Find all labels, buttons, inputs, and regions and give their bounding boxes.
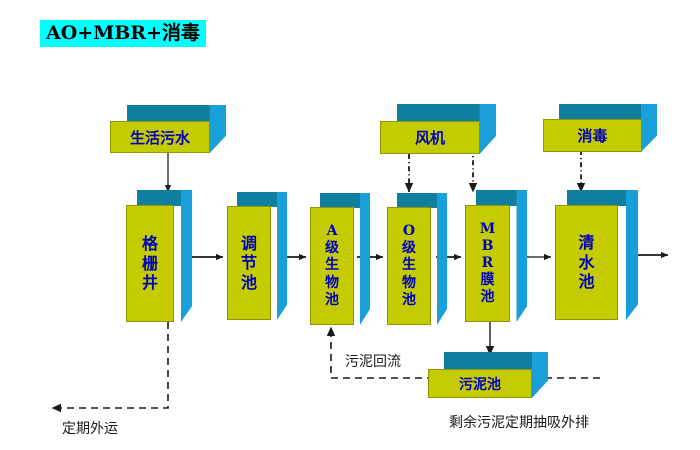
box-blower-front-face: 风机 (380, 121, 480, 154)
box-equalization-tank-front-face: 调 节 池 (227, 206, 271, 320)
box-blower[interactable]: 风机 (380, 104, 496, 154)
box-sludge-tank-front-face: 污泥池 (428, 369, 532, 398)
char: 池 (578, 272, 594, 292)
box-mbr-membrane-tank[interactable]: M B R 膜 池 (465, 190, 527, 322)
char: 井 (142, 273, 158, 293)
char: 水 (578, 253, 594, 273)
box-influent-front-face: 生活污水 (110, 121, 210, 153)
box-sludge-tank[interactable]: 污泥池 (428, 352, 548, 398)
char: 物 (325, 275, 339, 292)
char: 池 (325, 292, 339, 309)
char: 级 (402, 240, 416, 257)
page-title: AO+MBR+消毒 (40, 20, 206, 47)
box-a-stage-bioreactor-vertical-label: A 级 生 物 池 (325, 223, 339, 308)
box-mbr-membrane-tank-vertical-label: M B R 膜 池 (480, 221, 496, 306)
box-grating-well-vertical-label: 格 栅 井 (142, 234, 158, 293)
box-disinfect-label: 消毒 (577, 125, 607, 146)
box-o-stage-bioreactor-front-face: O 级 生 物 池 (387, 207, 431, 325)
box-equalization-tank-vertical-label: 调 节 池 (241, 234, 257, 293)
char: 级 (325, 240, 339, 257)
char: 生 (325, 257, 339, 274)
box-sludge-tank-label: 污泥池 (459, 374, 501, 394)
char: 膜 (481, 272, 495, 289)
box-grating-well[interactable]: 格 栅 井 (126, 190, 192, 322)
char: R (482, 255, 494, 272)
dashed-grating-to-periodic-haul (52, 322, 168, 408)
box-influent-label: 生活污水 (130, 127, 190, 148)
char: 栅 (142, 254, 158, 274)
box-grating-well-front-face: 格 栅 井 (126, 205, 174, 322)
label-sludge-return: 污泥回流 (345, 351, 401, 371)
box-influent[interactable]: 生活污水 (110, 105, 226, 153)
char: 池 (402, 292, 416, 309)
label-excess-sludge-discharge: 剩余污泥定期抽吸外排 (449, 412, 589, 432)
label-periodic-haul: 定期外运 (62, 418, 118, 438)
char: A (327, 223, 338, 240)
char: M (480, 221, 496, 238)
box-equalization-tank[interactable]: 调 节 池 (227, 192, 287, 320)
char: O (403, 223, 415, 240)
char: 清 (578, 233, 594, 253)
char: 池 (481, 289, 495, 306)
char: 格 (142, 234, 158, 254)
char: B (482, 238, 494, 255)
box-disinfect[interactable]: 消毒 (543, 104, 657, 152)
box-blower-label: 风机 (415, 127, 445, 148)
char: 生 (402, 257, 416, 274)
diagram-canvas: AO+MBR+消毒 (0, 0, 700, 450)
box-clear-water-tank-front-face: 清 水 池 (555, 205, 618, 320)
char: 物 (402, 275, 416, 292)
box-a-stage-bioreactor[interactable]: A 级 生 物 池 (310, 193, 370, 325)
box-clear-water-tank[interactable]: 清 水 池 (555, 190, 638, 320)
box-disinfect-front-face: 消毒 (543, 119, 642, 152)
char: 池 (241, 273, 257, 293)
char: 节 (241, 253, 257, 273)
box-o-stage-bioreactor-vertical-label: O 级 生 物 池 (402, 223, 416, 308)
box-o-stage-bioreactor[interactable]: O 级 生 物 池 (387, 193, 447, 325)
char: 调 (241, 234, 257, 254)
box-clear-water-tank-vertical-label: 清 水 池 (578, 233, 594, 292)
box-mbr-membrane-tank-front-face: M B R 膜 池 (465, 205, 510, 322)
box-a-stage-bioreactor-front-face: A 级 生 物 池 (310, 207, 354, 325)
